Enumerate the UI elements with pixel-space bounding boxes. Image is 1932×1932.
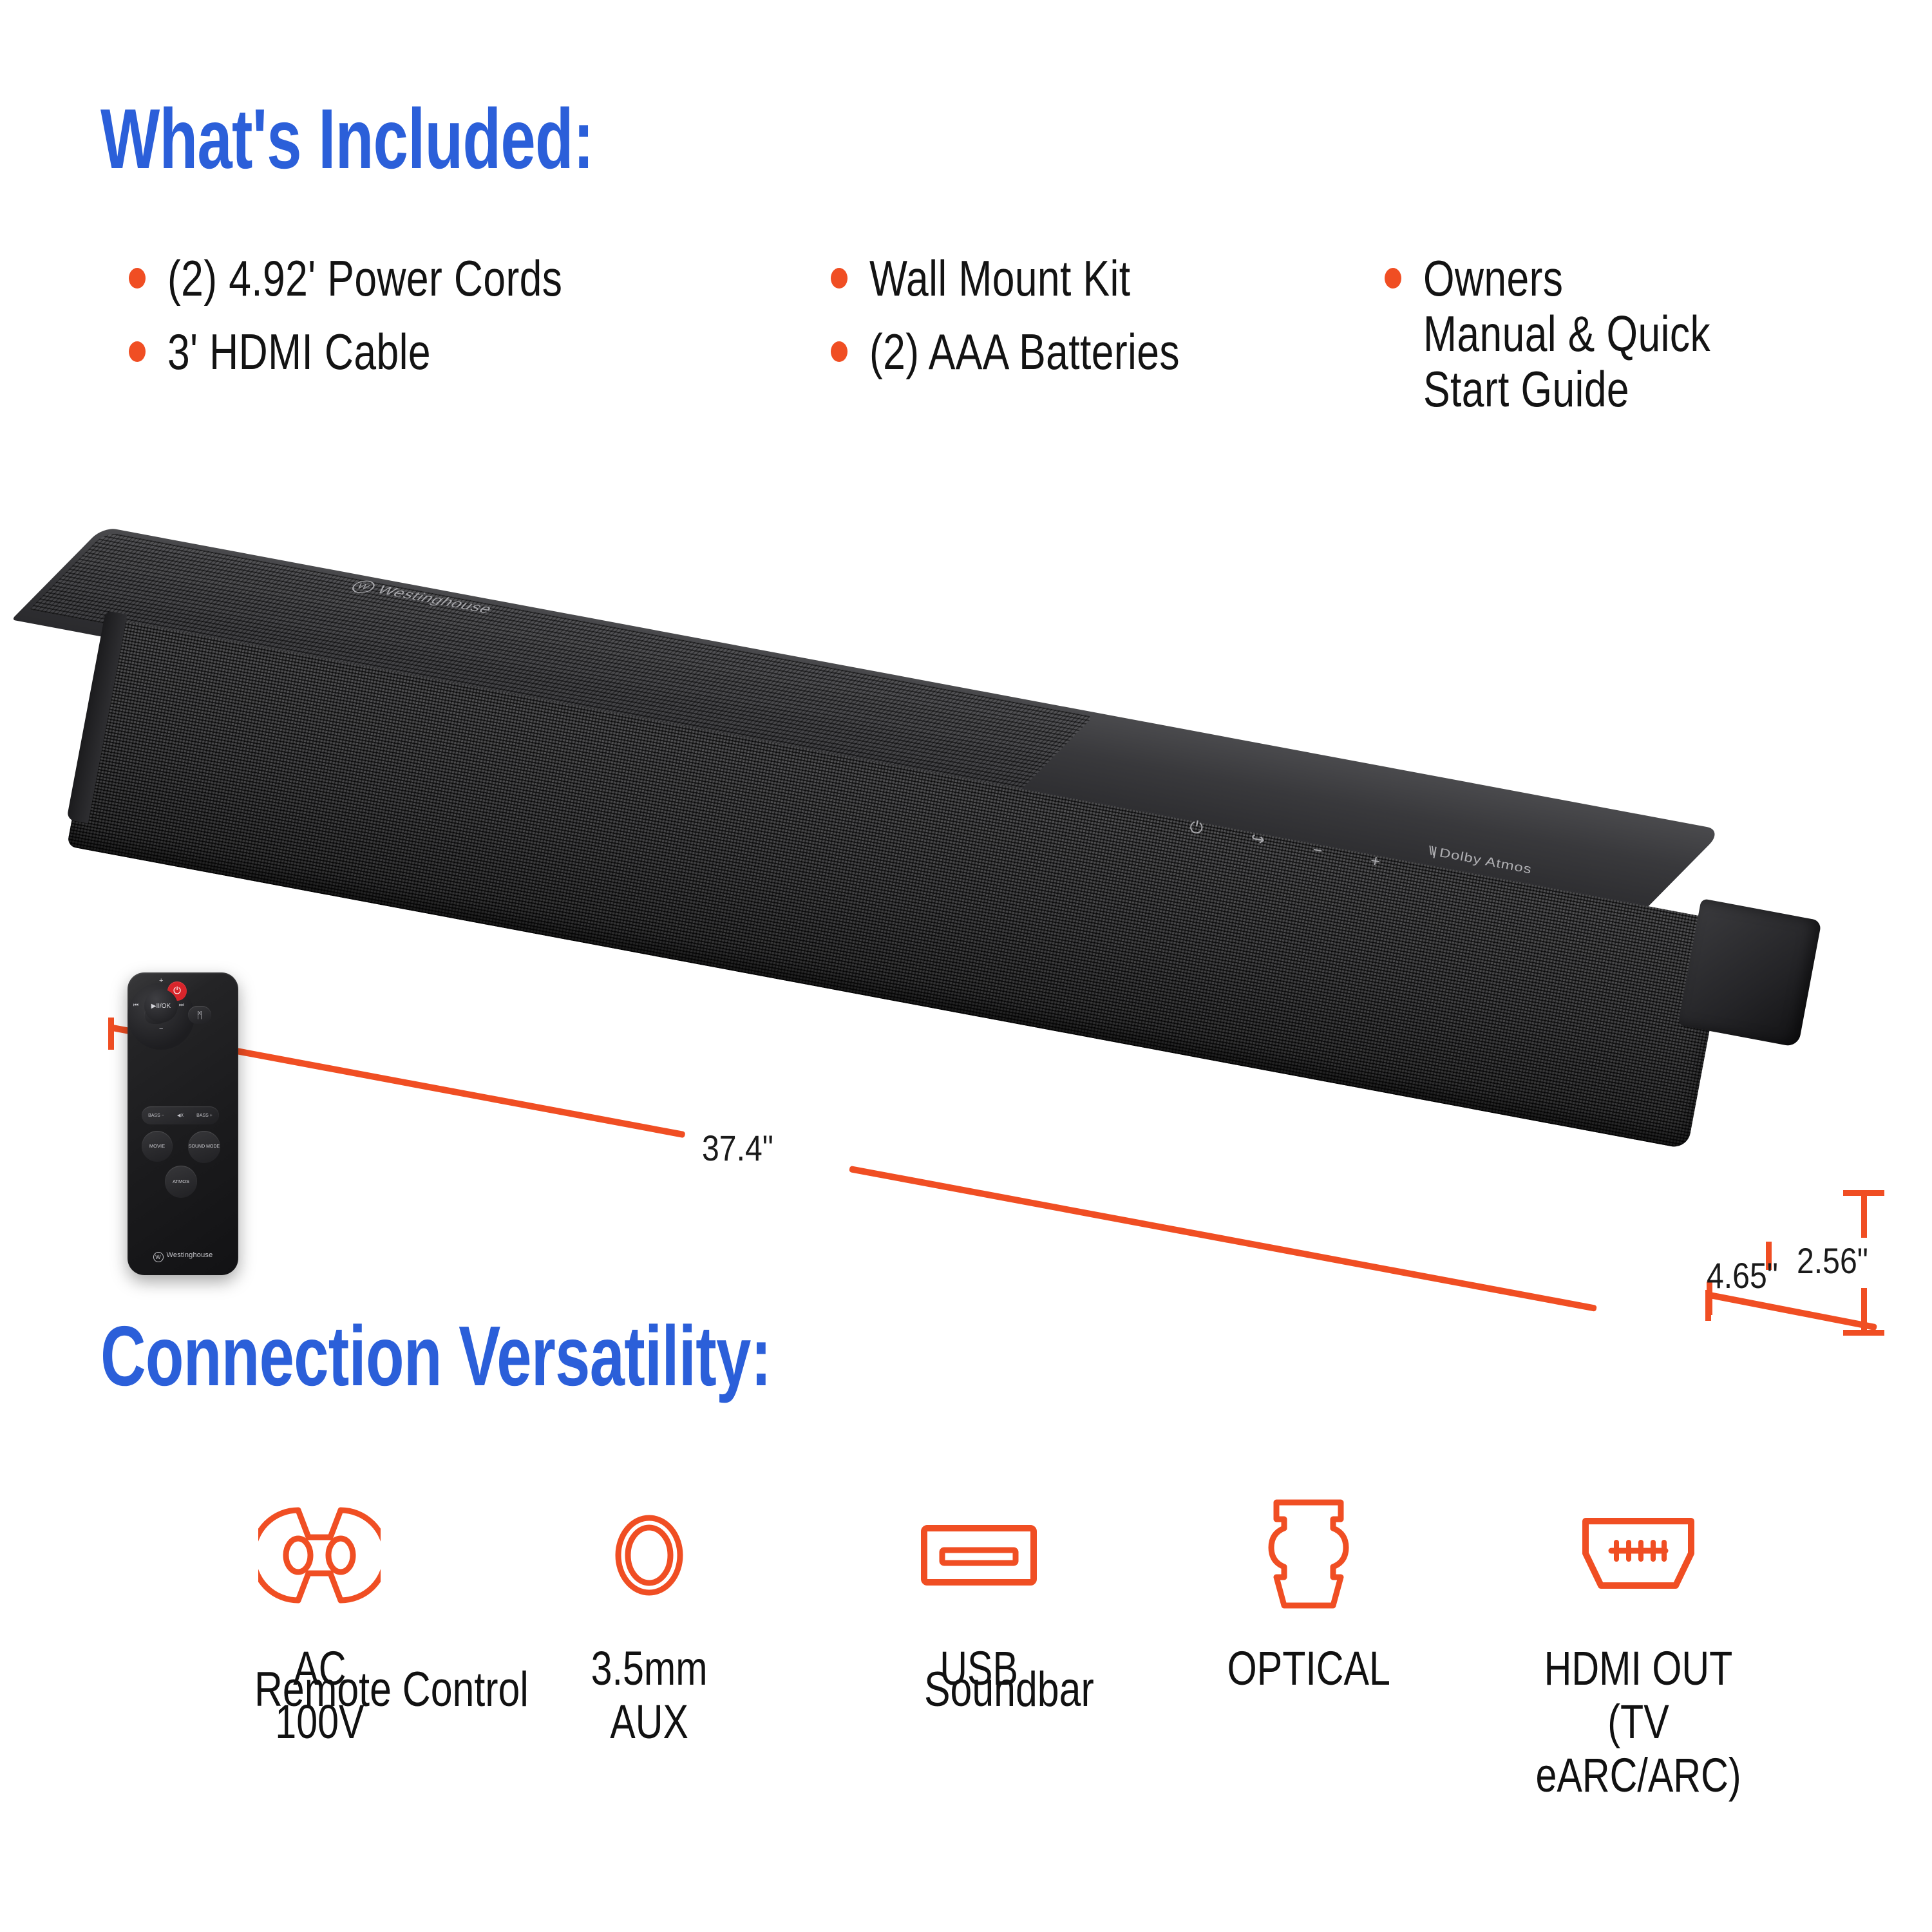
connection-label: OPTICAL <box>1227 1642 1390 1696</box>
westinghouse-w-icon: W <box>153 1252 164 1262</box>
list-item: (2) AAA Batteries <box>831 325 1385 380</box>
list-item: (2) 4.92' Power Cords <box>129 251 831 307</box>
connection-label: AC 100V <box>275 1642 364 1749</box>
product-stage: WWestinghouse \\|Dolby Atmos ⏻ ↪ − + 37.… <box>0 528 1932 1301</box>
list-item: Wall Mount Kit <box>831 251 1385 307</box>
remote-control-image: ⏻ ↱ ᛗ + − ⏮ ⏭ ▶II/OK BASS − ◀X BASS + MO… <box>128 972 238 1275</box>
height-dimension-line-upper <box>1861 1191 1867 1238</box>
touch-power-icon[interactable]: ⏻ <box>1188 818 1204 837</box>
optical-port-icon <box>1264 1494 1354 1616</box>
bullet-dot-icon <box>129 341 146 362</box>
connections-row: AC 100V 3.5mm AUX USB <box>155 1494 1803 1855</box>
included-column-1: (2) 4.92' Power Cords 3' HDMI Cable <box>129 251 831 457</box>
remote-sound-mode-button[interactable]: SOUND MODE <box>188 1131 220 1163</box>
connection-hdmi: HDMI OUT (TV eARC/ARC) <box>1473 1494 1803 1803</box>
list-item: Owners Manual & Quick Start Guide <box>1385 251 1880 417</box>
remote-bass-plus-button[interactable]: BASS + <box>196 1113 213 1118</box>
included-item-label: Owners Manual & Quick Start Guide <box>1423 251 1710 417</box>
connection-usb: USB <box>814 1494 1144 1696</box>
remote-next-track-icon[interactable]: ⏭ <box>179 1001 184 1009</box>
bullet-dot-icon <box>831 341 848 362</box>
connection-optical: OPTICAL <box>1144 1494 1473 1696</box>
remote-bluetooth-button[interactable]: ᛗ <box>188 1006 211 1024</box>
included-item-label: 3' HDMI Cable <box>167 325 431 380</box>
infographic-page: What's Included: (2) 4.92' Power Cords 3… <box>0 0 1932 1932</box>
remote-brand-logo: WWestinghouse <box>128 1251 238 1262</box>
bullet-dot-icon <box>129 268 146 289</box>
included-column-2: Wall Mount Kit (2) AAA Batteries <box>831 251 1385 457</box>
included-item-label: (2) 4.92' Power Cords <box>167 251 562 307</box>
bullet-dot-icon <box>1385 268 1401 289</box>
connection-label: HDMI OUT (TV eARC/ARC) <box>1506 1642 1770 1803</box>
connection-label: USB <box>940 1642 1018 1696</box>
included-item-label: Wall Mount Kit <box>869 251 1131 307</box>
touch-source-icon[interactable]: ↪ <box>1249 829 1266 849</box>
remote-previous-track-icon[interactable]: ⏮ <box>133 1001 138 1009</box>
included-column-3: Owners Manual & Quick Start Guide <box>1385 251 1880 457</box>
length-dimension-label: 37.4" <box>702 1127 773 1169</box>
usb-port-icon <box>918 1494 1040 1616</box>
bullet-dot-icon <box>831 268 848 289</box>
connection-aux: 3.5mm AUX <box>484 1494 814 1749</box>
depth-dimension-label: 4.65" <box>1707 1255 1778 1296</box>
height-dimension-label: 2.56" <box>1797 1240 1868 1282</box>
remote-mute-button[interactable]: ◀X <box>177 1113 184 1118</box>
list-item: 3' HDMI Cable <box>129 325 831 380</box>
included-item-label: (2) AAA Batteries <box>869 325 1180 380</box>
aux-jack-icon <box>604 1494 694 1616</box>
soundbar-product-image: WWestinghouse \\|Dolby Atmos ⏻ ↪ − + <box>97 541 1784 1018</box>
ac-plug-icon <box>258 1494 381 1616</box>
length-dimension-line-right <box>849 1166 1597 1312</box>
remote-atmos-button[interactable]: ATMOS <box>165 1166 197 1198</box>
connection-label: 3.5mm AUX <box>591 1642 708 1749</box>
remote-play-pause-ok-button[interactable]: ▶II/OK <box>144 989 178 1023</box>
included-items-grid: (2) 4.92' Power Cords 3' HDMI Cable Wall… <box>129 251 1880 457</box>
remote-volume-down-icon[interactable]: − <box>159 1025 163 1033</box>
remote-volume-up-icon[interactable]: + <box>159 977 163 985</box>
whats-included-heading: What's Included: <box>100 97 594 182</box>
height-dimension-cap-top <box>1843 1190 1884 1196</box>
height-dimension-cap-bottom <box>1843 1330 1884 1336</box>
soundbar-right-end-cap <box>1678 898 1822 1048</box>
remote-movie-button[interactable]: MOVIE <box>142 1131 173 1162</box>
remote-bass-row[interactable]: BASS − ◀X BASS + <box>142 1106 219 1124</box>
remote-brand-label: Westinghouse <box>167 1251 213 1259</box>
hdmi-port-icon <box>1574 1494 1703 1616</box>
connection-versatility-heading: Connection Versatility: <box>100 1314 771 1399</box>
remote-bass-minus-button[interactable]: BASS − <box>148 1113 164 1118</box>
touch-volume-down-icon[interactable]: − <box>1311 841 1324 859</box>
dolby-double-d-icon: \\| <box>1427 844 1436 858</box>
length-dimension-cap-left <box>108 1018 114 1050</box>
depth-dimension-line <box>1705 1291 1877 1331</box>
connection-ac: AC 100V <box>155 1494 484 1749</box>
